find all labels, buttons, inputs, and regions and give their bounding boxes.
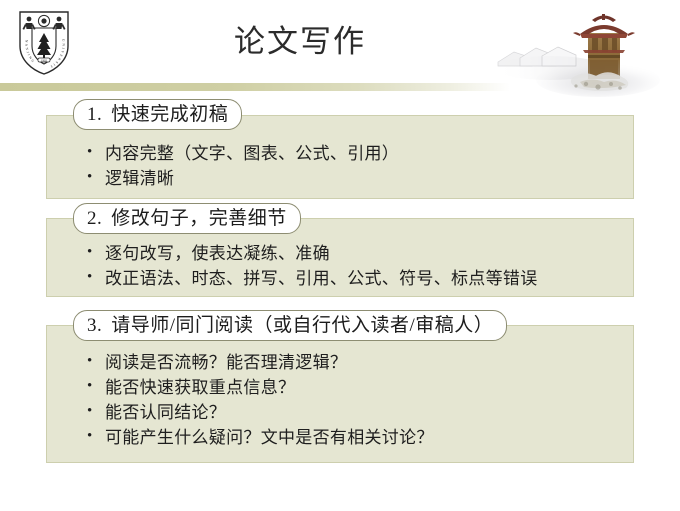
slide-canvas: 1902 (0, 0, 680, 511)
svg-text:1902: 1902 (41, 58, 48, 62)
list-item: 阅读是否流畅？能否理清逻辑？ (87, 350, 623, 375)
header-divider-bar (0, 83, 510, 91)
list-item: 可能产生什么疑问？文中是否有相关讨论？ (87, 425, 623, 450)
slide-header: 1902 (0, 0, 680, 92)
list-item: 内容完整（文字、图表、公式、引用） (87, 141, 623, 166)
section-body-3: 阅读是否流畅？能否理清逻辑？ 能否快速获取重点信息？ 能否认同结论？ 可能产生什… (46, 325, 634, 463)
section-heading-2: 2.修改句子，完善细节 (73, 203, 301, 234)
section-number-2: 2. (87, 208, 102, 229)
section-number-1: 1. (87, 104, 102, 125)
slide-title: 论文写作 (120, 22, 480, 62)
section-title-3: 请导师/同门阅读（或自行代入读者/审稿人） (111, 315, 493, 336)
section-heading-1: 1.快速完成初稿 (73, 99, 242, 130)
list-item: 逻辑清晰 (87, 166, 623, 191)
list-item: 能否认同结论？ (87, 400, 623, 425)
list-item: 改正语法、时态、拼写、引用、公式、符号、标点等错误 (87, 266, 623, 291)
section-heading-3: 3.请导师/同门阅读（或自行代入读者/审稿人） (73, 310, 507, 341)
section-title-2: 修改句子，完善细节 (111, 208, 287, 229)
section-number-3: 3. (87, 315, 102, 336)
section-title-1: 快速完成初稿 (111, 104, 228, 125)
section-bullets-3: 阅读是否流畅？能否理清逻辑？ 能否快速获取重点信息？ 能否认同结论？ 可能产生什… (47, 350, 633, 450)
chinese-tower-watercolor-image (480, 0, 680, 100)
list-item: 能否快速获取重点信息？ (87, 375, 623, 400)
section-bullets-1: 内容完整（文字、图表、公式、引用） 逻辑清晰 (47, 141, 633, 191)
section-bullets-2: 逐句改写，使表达凝练、准确 改正语法、时态、拼写、引用、公式、符号、标点等错误 (47, 241, 633, 291)
list-item: 逐句改写，使表达凝练、准确 (87, 241, 623, 266)
nanjing-university-crest-icon: 1902 (16, 8, 72, 76)
